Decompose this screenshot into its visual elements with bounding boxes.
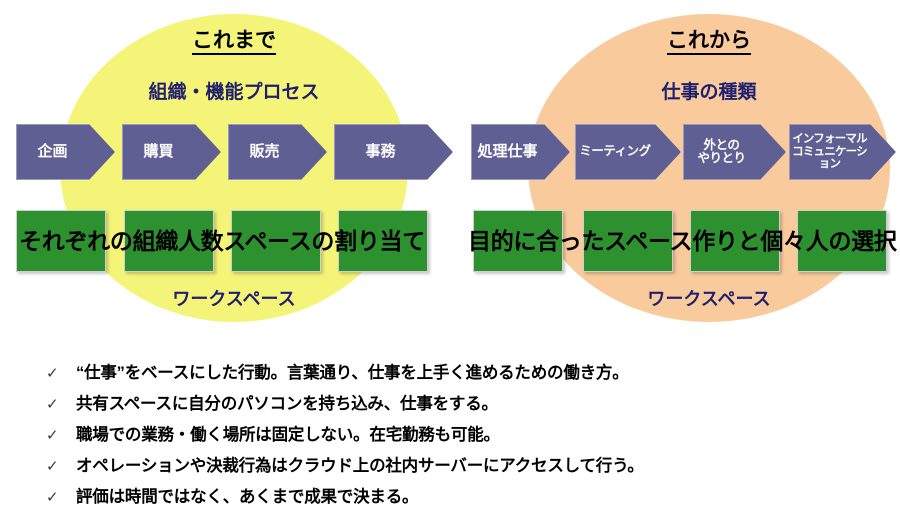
panel-title-before: これまで (60, 24, 408, 54)
list-item-text: 共有スペースに自分のパソコンを持ち込み、仕事をする。 (76, 389, 498, 420)
list-item: ✓ 評価は時間ではなく、あくまで成果で決まる。 (44, 482, 874, 513)
list-item-text: “仕事”をベースにした行動。言葉通り、仕事を上手く進めるための働き方。 (76, 358, 629, 389)
slide-canvas: これまで これから 組織・機能プロセス 仕事の種類 企画 購買 販売 事務 処理… (0, 0, 900, 517)
list-item: ✓ 共有スペースに自分のパソコンを持ち込み、仕事をする。 (44, 389, 874, 420)
panel-subtitle-after: 仕事の種類 (528, 77, 890, 104)
panel-subtitle-before: 組織・機能プロセス (60, 77, 408, 104)
check-icon: ✓ (44, 389, 76, 420)
process-arrow-before-4-label: 事務 (335, 144, 426, 160)
list-item: ✓ “仕事”をベースにした行動。言葉通り、仕事を上手く進めるための働き方。 (44, 358, 874, 389)
panel-title-before-text: これまで (192, 29, 276, 55)
workspace-caption-after: 目的に合ったスペース作りと個々人の選択 (468, 225, 894, 257)
process-arrow-before-1-label: 企画 (17, 144, 88, 160)
list-item: ✓ オペレーションや決裁行為はクラウド上の社内サーバーにアクセスして行う。 (44, 451, 874, 482)
check-icon: ✓ (44, 420, 76, 451)
workspace-caption-before: それぞれの組織人数スペースの割り当て (10, 225, 434, 257)
list-item-text: 評価は時間ではなく、あくまで成果で決まる。 (76, 482, 418, 513)
check-icon: ✓ (44, 482, 76, 513)
process-arrow-after-1-label: 処理仕事 (472, 144, 543, 160)
process-arrow-before-4[interactable]: 事務 (334, 124, 453, 180)
process-arrow-after-2-label: ミーティング (576, 145, 654, 159)
check-icon: ✓ (44, 358, 76, 389)
check-icon: ✓ (44, 451, 76, 482)
process-arrow-after-3-label: 外との やりとり (684, 139, 759, 166)
process-arrow-before-2-label: 購買 (123, 144, 194, 160)
panel-footer-after: ワークスペース (528, 285, 890, 311)
panel-footer-before: ワークスペース (60, 285, 408, 311)
list-item-text: 職場での業務・働く場所は固定しない。在宅勤務も可能。 (76, 420, 500, 451)
process-arrow-after-4-label: インフォーマル コミュニケーション (790, 133, 869, 170)
panel-title-after: これから (528, 24, 890, 54)
bullet-list: ✓ “仕事”をベースにした行動。言葉通り、仕事を上手く進めるための働き方。 ✓ … (44, 358, 874, 513)
list-item-text: オペレーションや決裁行為はクラウド上の社内サーバーにアクセスして行う。 (76, 451, 644, 482)
list-item: ✓ 職場での業務・働く場所は固定しない。在宅勤務も可能。 (44, 420, 874, 451)
panel-title-after-text: これから (667, 29, 751, 55)
process-arrow-before-3-label: 販売 (229, 144, 300, 160)
